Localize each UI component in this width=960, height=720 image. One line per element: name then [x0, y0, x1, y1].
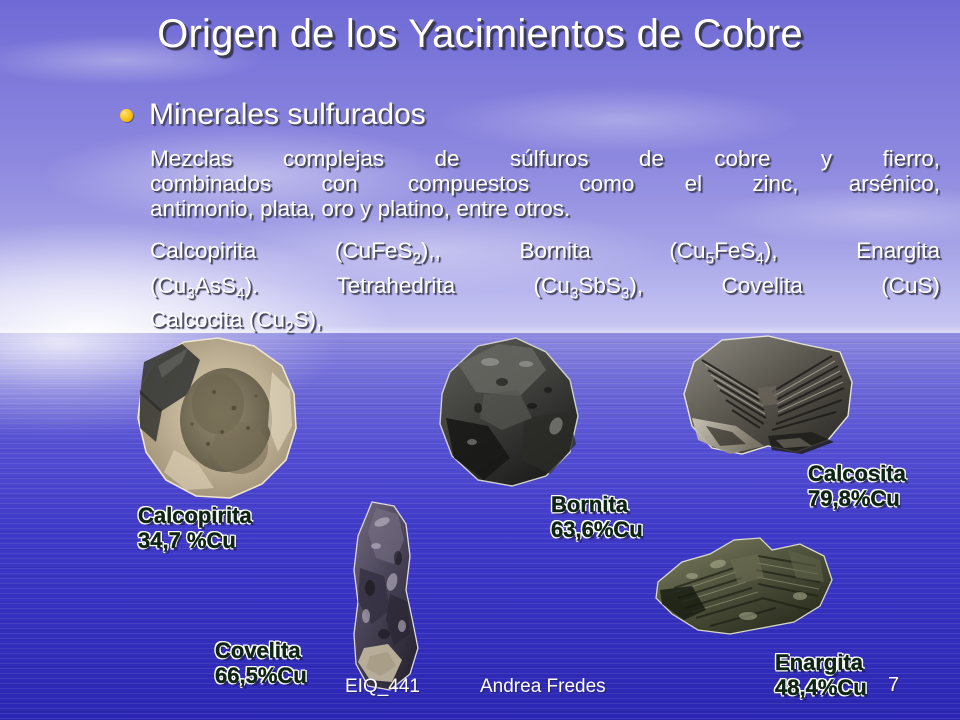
bornita-label: Bornita 63,6%Cu	[551, 492, 643, 542]
calcosita-photo	[672, 330, 862, 470]
calcopirita-name: Calcopirita	[138, 503, 252, 528]
calcopirita-photo	[122, 332, 322, 512]
covelita-name: Covelita	[215, 638, 301, 663]
covelita-label: Covelita 66,5%Cu	[215, 638, 307, 688]
bullet-heading-row: Minerales sulfurados	[120, 98, 940, 132]
formula-text: ), Enargita	[764, 238, 940, 263]
bullet-heading-label: Minerales sulfurados	[149, 98, 426, 132]
slide-canvas: Origen de los Yacimientos de Cobre Miner…	[0, 0, 960, 720]
enargita-label: Enargita 48,4%Cu	[775, 650, 867, 700]
enargita-grade: 48,4%Cu	[775, 675, 867, 700]
formula-text: AsS	[195, 273, 236, 298]
formula-text: ). Tetrahedrita (Cu	[245, 273, 570, 298]
formula-text: (Cu	[150, 273, 186, 298]
formula-text: FeS	[714, 238, 755, 263]
formula-subscript: 5	[706, 251, 715, 268]
covelita-grade: 66,5%Cu	[215, 663, 307, 688]
paragraph-line-2: combinados con compuestos como el zinc, …	[150, 171, 940, 196]
paragraph-description: Mezclas complejas de súlfuros de cobre y…	[150, 146, 940, 221]
formula-subscript: 2	[412, 251, 421, 268]
formula-text: SbS	[578, 273, 621, 298]
formula-subscript: 4	[755, 251, 764, 268]
footer-course-code: EIQ_441	[345, 676, 420, 698]
enargita-photo	[648, 530, 838, 650]
formula-subscript: 3	[186, 285, 195, 302]
calcosita-label: Calcosita 79,8%Cu	[808, 461, 906, 511]
bornita-grade: 63,6%Cu	[551, 517, 643, 542]
paragraph-line-3: antimonio, plata, oro y platino, entre o…	[150, 196, 940, 221]
footer-author: Andrea Fredes	[480, 676, 606, 698]
paragraph-formulas: Calcopirita (CuFeS2),, Bornita (Cu5FeS4)…	[150, 238, 940, 342]
bornita-photo	[428, 334, 593, 494]
calcopirita-grade: 34,7 %Cu	[138, 528, 236, 553]
formula-subscript: 4	[236, 285, 245, 302]
formula-line-2: (Cu3AsS4). Tetrahedrita (Cu3SbS3), Covel…	[150, 273, 940, 308]
page-title: Origen de los Yacimientos de Cobre	[0, 12, 960, 57]
calcopirita-label: Calcopirita 34,7 %Cu	[138, 503, 252, 553]
formula-line-1: Calcopirita (CuFeS2),, Bornita (Cu5FeS4)…	[150, 238, 940, 273]
paragraph-line-1: Mezclas complejas de súlfuros de cobre y…	[150, 146, 940, 171]
slide-number: 7	[888, 674, 899, 697]
formula-text: S),	[294, 307, 323, 332]
covelita-photo	[332, 498, 442, 698]
bornita-name: Bornita	[551, 492, 628, 517]
calcosita-name: Calcosita	[808, 461, 906, 486]
formula-text: Calcocita (Cu	[150, 307, 285, 332]
bullet-dot-icon	[120, 109, 133, 122]
formula-text: ),, Bornita (Cu	[421, 238, 706, 263]
enargita-name: Enargita	[775, 650, 863, 675]
formula-text: ), Covelita (CuS)	[629, 273, 940, 298]
calcosita-grade: 79,8%Cu	[808, 486, 900, 511]
formula-text: Calcopirita (CuFeS	[150, 238, 412, 263]
